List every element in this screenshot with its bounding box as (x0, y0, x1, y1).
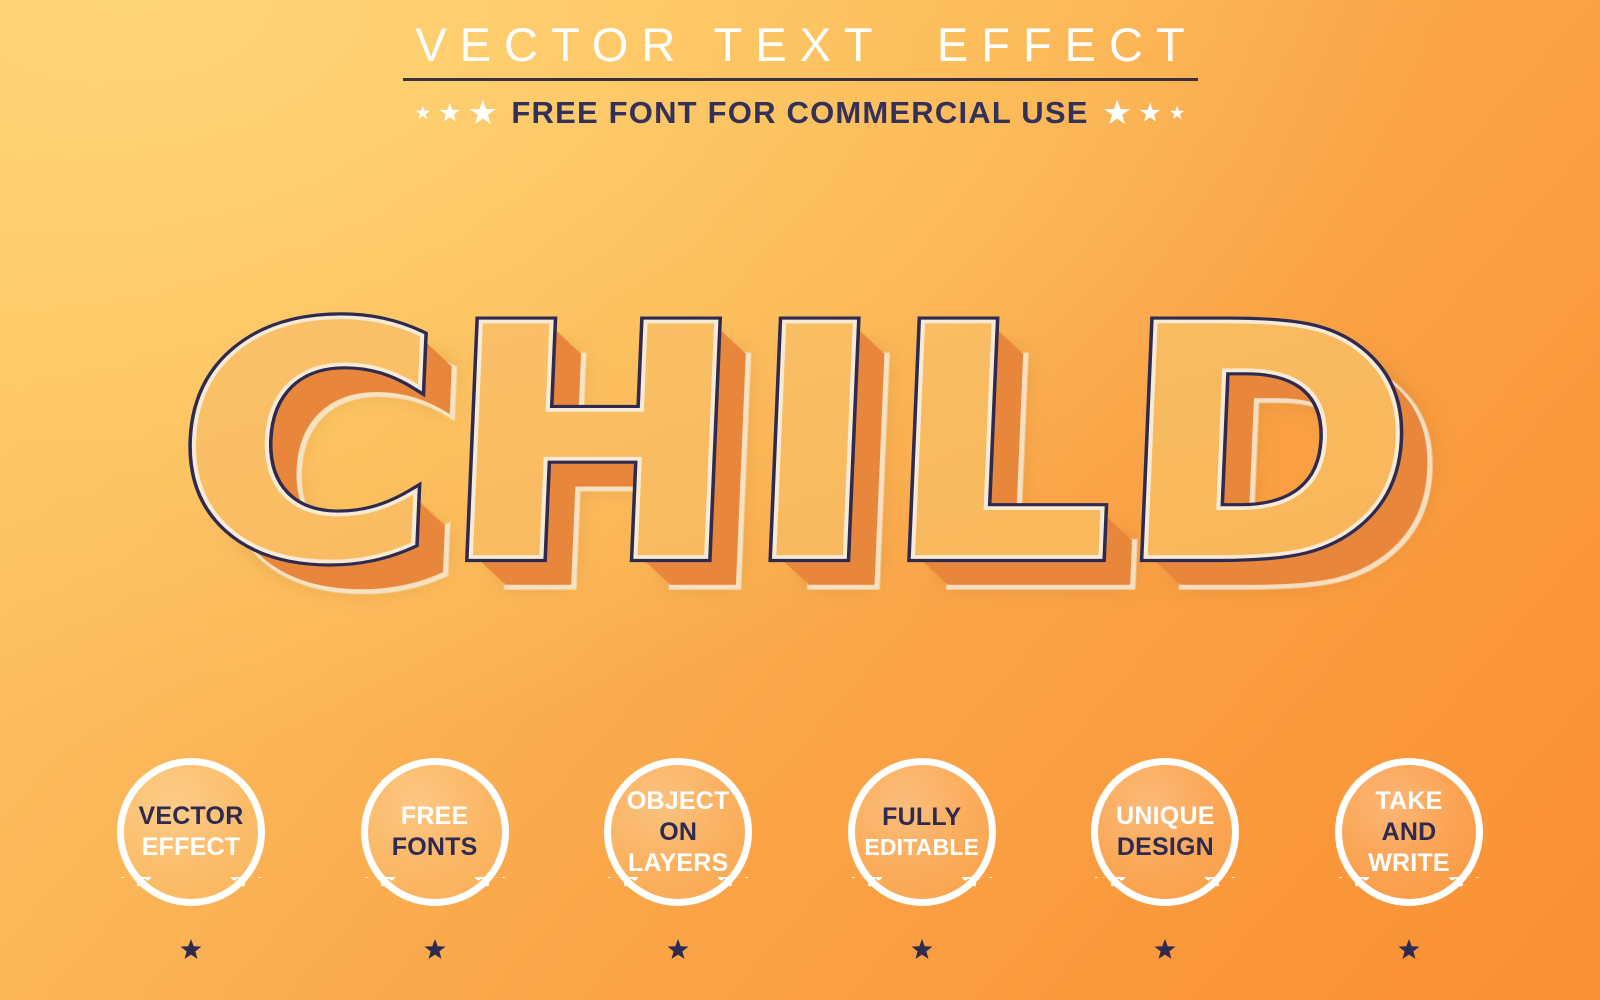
hero-word-child: CHILD CHILD CHILD CHILD CHILD CHILD CHIL… (172, 287, 1428, 605)
laurel-wreath-icon (101, 877, 281, 963)
laurel-wreath-icon (588, 877, 768, 963)
star-medium-icon (439, 103, 460, 124)
laurel-wreath-icon (1075, 877, 1255, 963)
right-star-group (1104, 100, 1185, 127)
wreath-star-icon (911, 939, 932, 959)
star-medium-icon (1140, 103, 1161, 124)
star-large-icon (1104, 100, 1131, 127)
header: VECTOR TEXT EFFECT FREE FONT FOR COMMERC… (0, 18, 1600, 131)
wreath-star-icon (424, 939, 445, 959)
star-small-icon (1170, 106, 1185, 121)
laurel-wreath-icon (345, 877, 525, 963)
badge-free-fonts[interactable]: FREEFONTS (340, 748, 530, 963)
wreath-star-icon (181, 939, 202, 959)
poster-canvas: VECTOR TEXT EFFECT FREE FONT FOR COMMERC… (0, 0, 1600, 1000)
page-title: VECTOR TEXT EFFECT (0, 18, 1600, 72)
wreath-star-icon (668, 939, 689, 959)
hero-face-fill: CHILD (172, 287, 1428, 605)
laurel-wreath-icon (832, 877, 1012, 963)
wreath-star-icon (1399, 939, 1420, 959)
badge-fully-editable[interactable]: FULLYEDITABLE (827, 748, 1017, 963)
left-star-group (415, 100, 496, 127)
badge-vector-effect[interactable]: VECTOREFFECT (96, 748, 286, 963)
star-large-icon (469, 100, 496, 127)
subtitle-row: FREE FONT FOR COMMERCIAL USE (0, 95, 1600, 131)
title-underline (403, 78, 1198, 81)
laurel-wreath-icon (1319, 877, 1499, 963)
hero-text-area: CHILD CHILD CHILD CHILD CHILD CHILD CHIL… (0, 246, 1600, 646)
subtitle: FREE FONT FOR COMMERCIAL USE (511, 95, 1088, 131)
badge-unique-design[interactable]: UNIQUEDESIGN (1070, 748, 1260, 963)
wreath-star-icon (1155, 939, 1176, 959)
badge-row: VECTOREFFECTFREEFONTSOBJECTONLAYERSFULLY… (96, 748, 1504, 963)
badge-object-on-layers[interactable]: OBJECTONLAYERS (583, 748, 773, 963)
badge-take-and-write[interactable]: TAKEANDWRITE (1314, 748, 1504, 963)
star-small-icon (415, 106, 430, 121)
